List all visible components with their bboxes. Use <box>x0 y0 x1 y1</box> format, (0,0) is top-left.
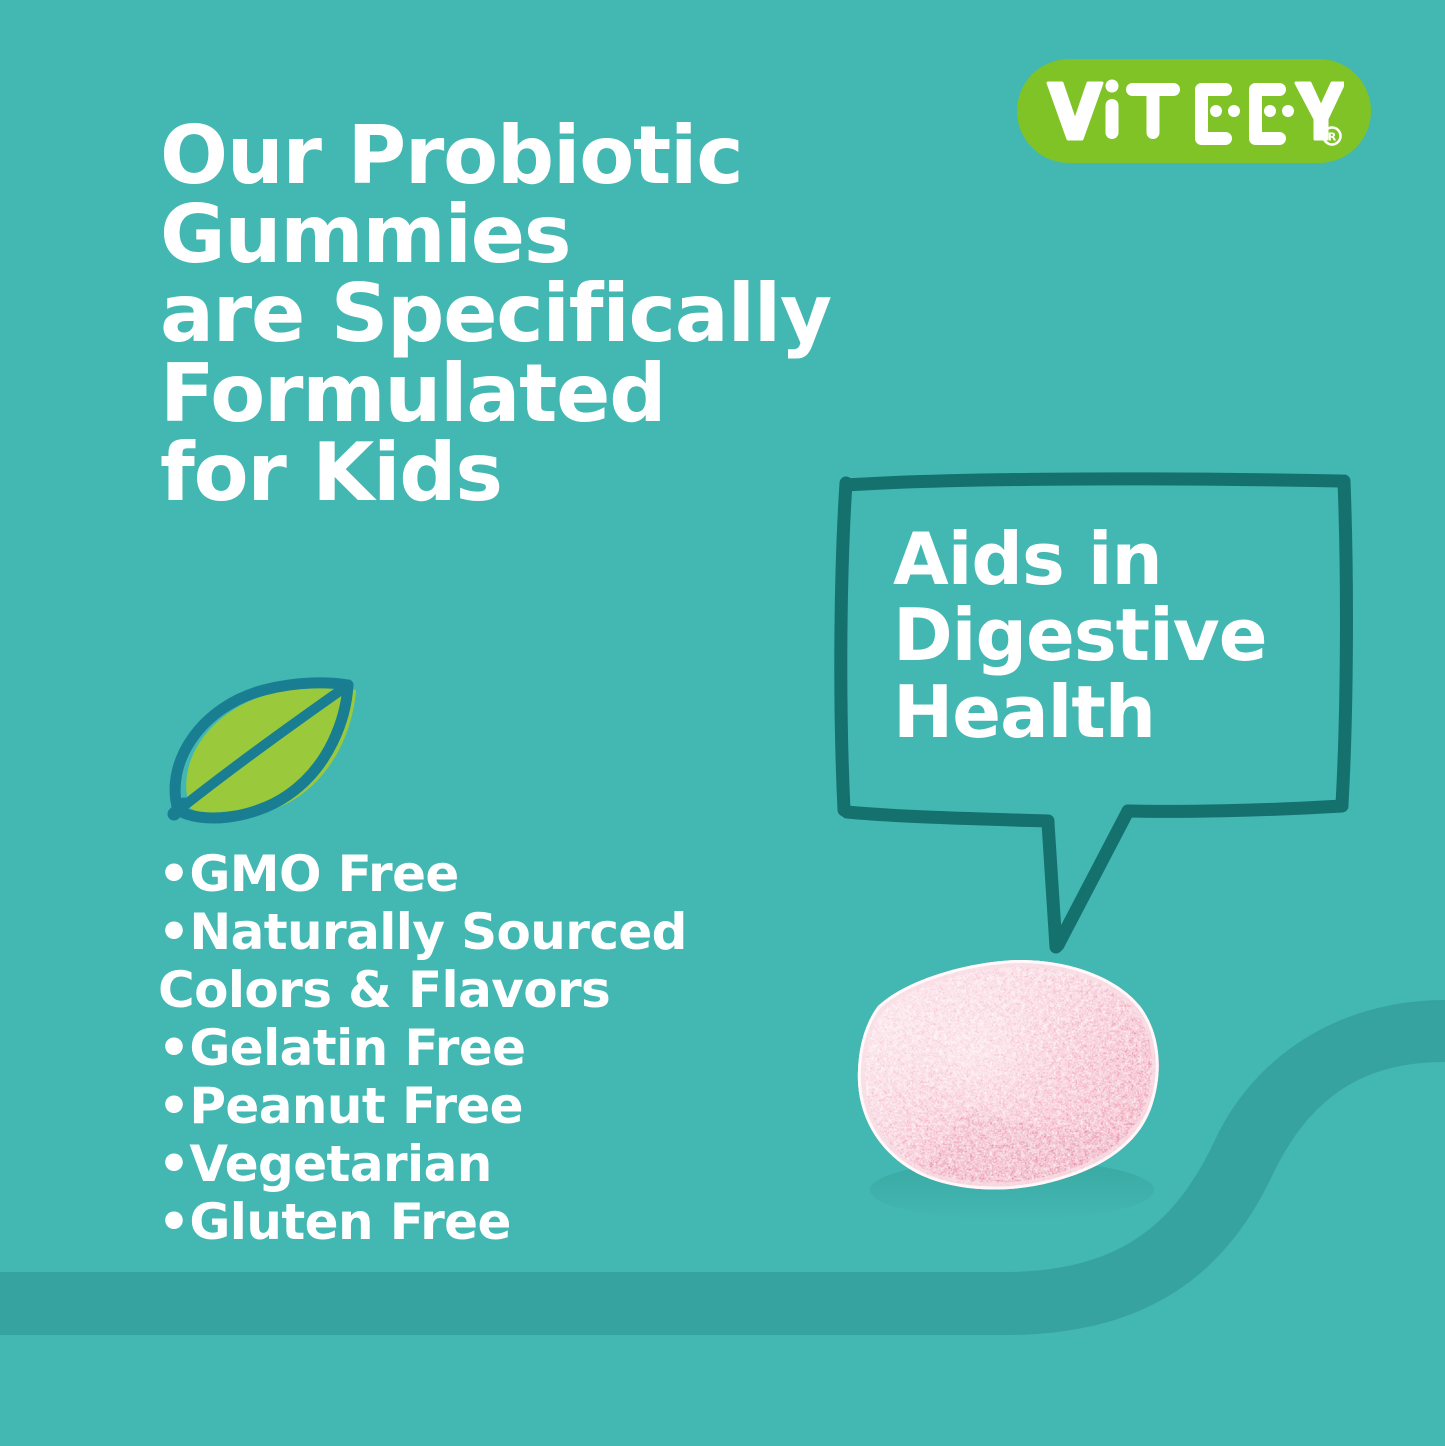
list-item-label: Naturally Sourced Colors & Flavors <box>158 903 687 1019</box>
brand-logo-wordmark: R <box>1044 73 1344 149</box>
bullet-icon: • <box>158 845 189 903</box>
bullet-icon: • <box>158 1135 189 1193</box>
bullet-icon: • <box>158 1077 189 1135</box>
bullet-icon: • <box>158 1019 189 1077</box>
bullet-icon: • <box>158 1193 189 1251</box>
list-item-label: Gluten Free <box>189 1193 510 1251</box>
bullet-icon: • <box>158 903 189 961</box>
list-item: •Peanut Free <box>158 1077 778 1135</box>
leaf-icon <box>152 658 384 833</box>
list-item: •Naturally Sourced Colors & Flavors <box>158 903 778 1019</box>
list-item: •Vegetarian <box>158 1135 778 1193</box>
svg-text:R: R <box>1328 131 1337 144</box>
probiotic-gummy-image <box>816 940 1186 1240</box>
list-item-label: Vegetarian <box>189 1135 491 1193</box>
brand-logo: R <box>1017 59 1371 163</box>
list-item: •GMO Free <box>158 845 778 903</box>
list-item-label: Peanut Free <box>189 1077 523 1135</box>
benefits-list: •GMO Free •Naturally Sourced Colors & Fl… <box>158 845 778 1251</box>
callout-text: Aids in Digestive Health <box>893 521 1313 750</box>
list-item-label: GMO Free <box>189 845 458 903</box>
marketing-image-canvas: R Our Probiotic Gummies are Specifically… <box>0 0 1445 1446</box>
list-item: •Gluten Free <box>158 1193 778 1251</box>
page-headline: Our Probiotic Gummies are Specifically F… <box>160 116 990 512</box>
list-item: •Gelatin Free <box>158 1019 778 1077</box>
list-item-label: Gelatin Free <box>189 1019 525 1077</box>
